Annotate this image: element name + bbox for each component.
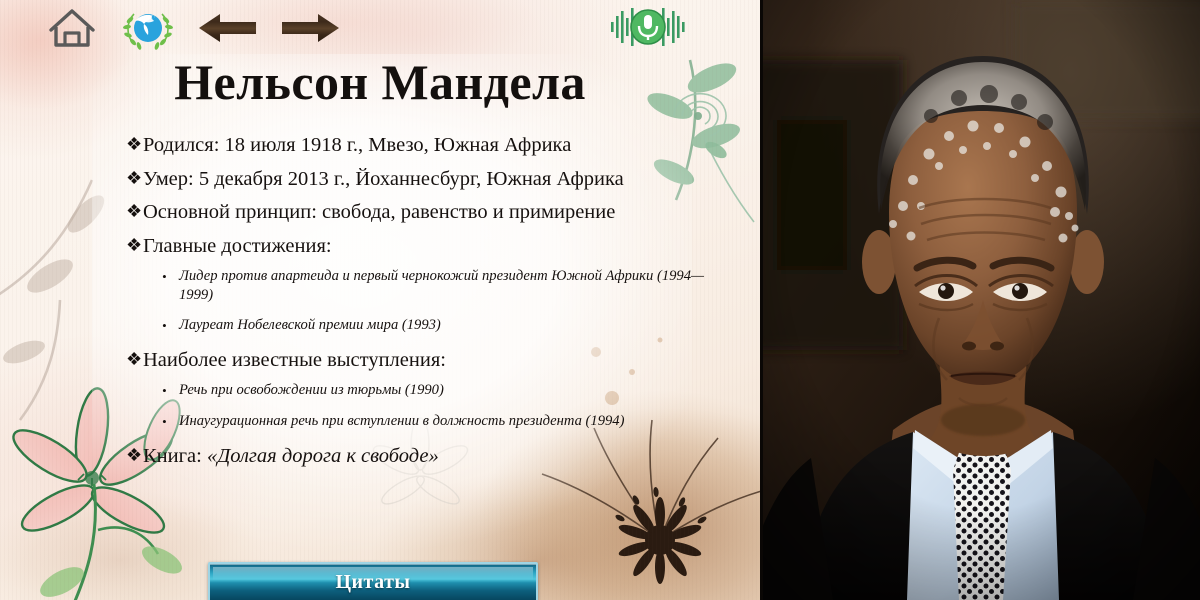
list-item-text: Родился: 18 июля 1918 г., Мвезо, Южная А… <box>143 132 706 159</box>
quotes-button[interactable]: Цитаты <box>208 562 538 600</box>
globe-dove-laurel-icon <box>123 5 173 51</box>
diamond-bullet-icon: ❖ <box>126 347 143 371</box>
list-item-text: Умер: 5 декабря 2013 г., Йоханнесбург, Ю… <box>143 166 706 193</box>
next-slide-button[interactable] <box>280 10 342 46</box>
home-icon <box>47 7 97 49</box>
book-label: Книга: <box>143 445 207 467</box>
microphone-button[interactable] <box>608 2 688 52</box>
diamond-bullet-icon: ❖ <box>126 199 143 223</box>
list-item-text: Главные достижения: <box>143 233 706 260</box>
list-item-text: Наиболее известные выступления: <box>143 347 706 374</box>
list-item: ❖ Главные достижения: <box>126 233 706 260</box>
content-panel: Нельсон Мандела ❖ Родился: 18 июля 1918 … <box>0 0 760 600</box>
list-item: ❖ Наиболее известные выступления: <box>126 347 706 374</box>
page-title: Нельсон Мандела <box>0 56 760 109</box>
sub-list-item: • Речь при освобождении из тюрьмы (1990) <box>162 381 706 401</box>
diamond-bullet-icon: ❖ <box>126 233 143 257</box>
portrait-photo <box>763 0 1200 600</box>
diamond-bullet-icon: ❖ <box>126 166 143 190</box>
list-item-book: ❖ Книга: «Долгая дорога к свободе» <box>126 443 706 470</box>
sub-list-item: • Инаугурационная речь при вступлении в … <box>162 412 706 432</box>
sub-list-item-text: Речь при освобождении из тюрьмы (1990) <box>179 381 706 400</box>
sub-list-item: • Лидер против апартеида и первый чернок… <box>162 267 706 306</box>
home-button[interactable] <box>44 5 100 51</box>
sub-list-item-text: Лидер против апартеида и первый чернокож… <box>179 267 706 306</box>
dot-bullet-icon: • <box>162 412 179 432</box>
dot-bullet-icon: • <box>162 267 179 287</box>
list-item-text: Основной принцип: свобода, равенство и п… <box>143 199 706 226</box>
peace-emblem-button[interactable] <box>122 4 174 52</box>
sub-list-item-text: Инаугурационная речь при вступлении в до… <box>179 412 706 431</box>
arrow-right-icon <box>282 13 340 43</box>
slide-root: Нельсон Мандела ❖ Родился: 18 июля 1918 … <box>0 0 1200 600</box>
diamond-bullet-icon: ❖ <box>126 132 143 156</box>
diamond-bullet-icon: ❖ <box>126 443 143 467</box>
previous-slide-button[interactable] <box>196 10 258 46</box>
dot-bullet-icon: • <box>162 316 179 336</box>
book-title: «Долгая дорога к свободе» <box>207 445 439 467</box>
sub-list-item-text: Лауреат Нобелевской премии мира (1993) <box>179 316 706 335</box>
bullet-list: ❖ Родился: 18 июля 1918 г., Мвезо, Южная… <box>126 132 706 477</box>
quotes-button-label: Цитаты <box>335 571 410 594</box>
portrait-photo-panel: Нельсон Мандела <box>760 0 1200 600</box>
sub-list-item: • Лауреат Нобелевской премии мира (1993) <box>162 316 706 336</box>
list-item: ❖ Родился: 18 июля 1918 г., Мвезо, Южная… <box>126 132 706 159</box>
list-item: ❖ Умер: 5 декабря 2013 г., Йоханнесбург,… <box>126 166 706 193</box>
microphone-icon <box>609 4 687 50</box>
list-item-text: Книга: «Долгая дорога к свободе» <box>143 443 706 470</box>
list-item: ❖ Основной принцип: свобода, равенство и… <box>126 199 706 226</box>
dot-bullet-icon: • <box>162 381 179 401</box>
arrow-left-icon <box>198 13 256 43</box>
